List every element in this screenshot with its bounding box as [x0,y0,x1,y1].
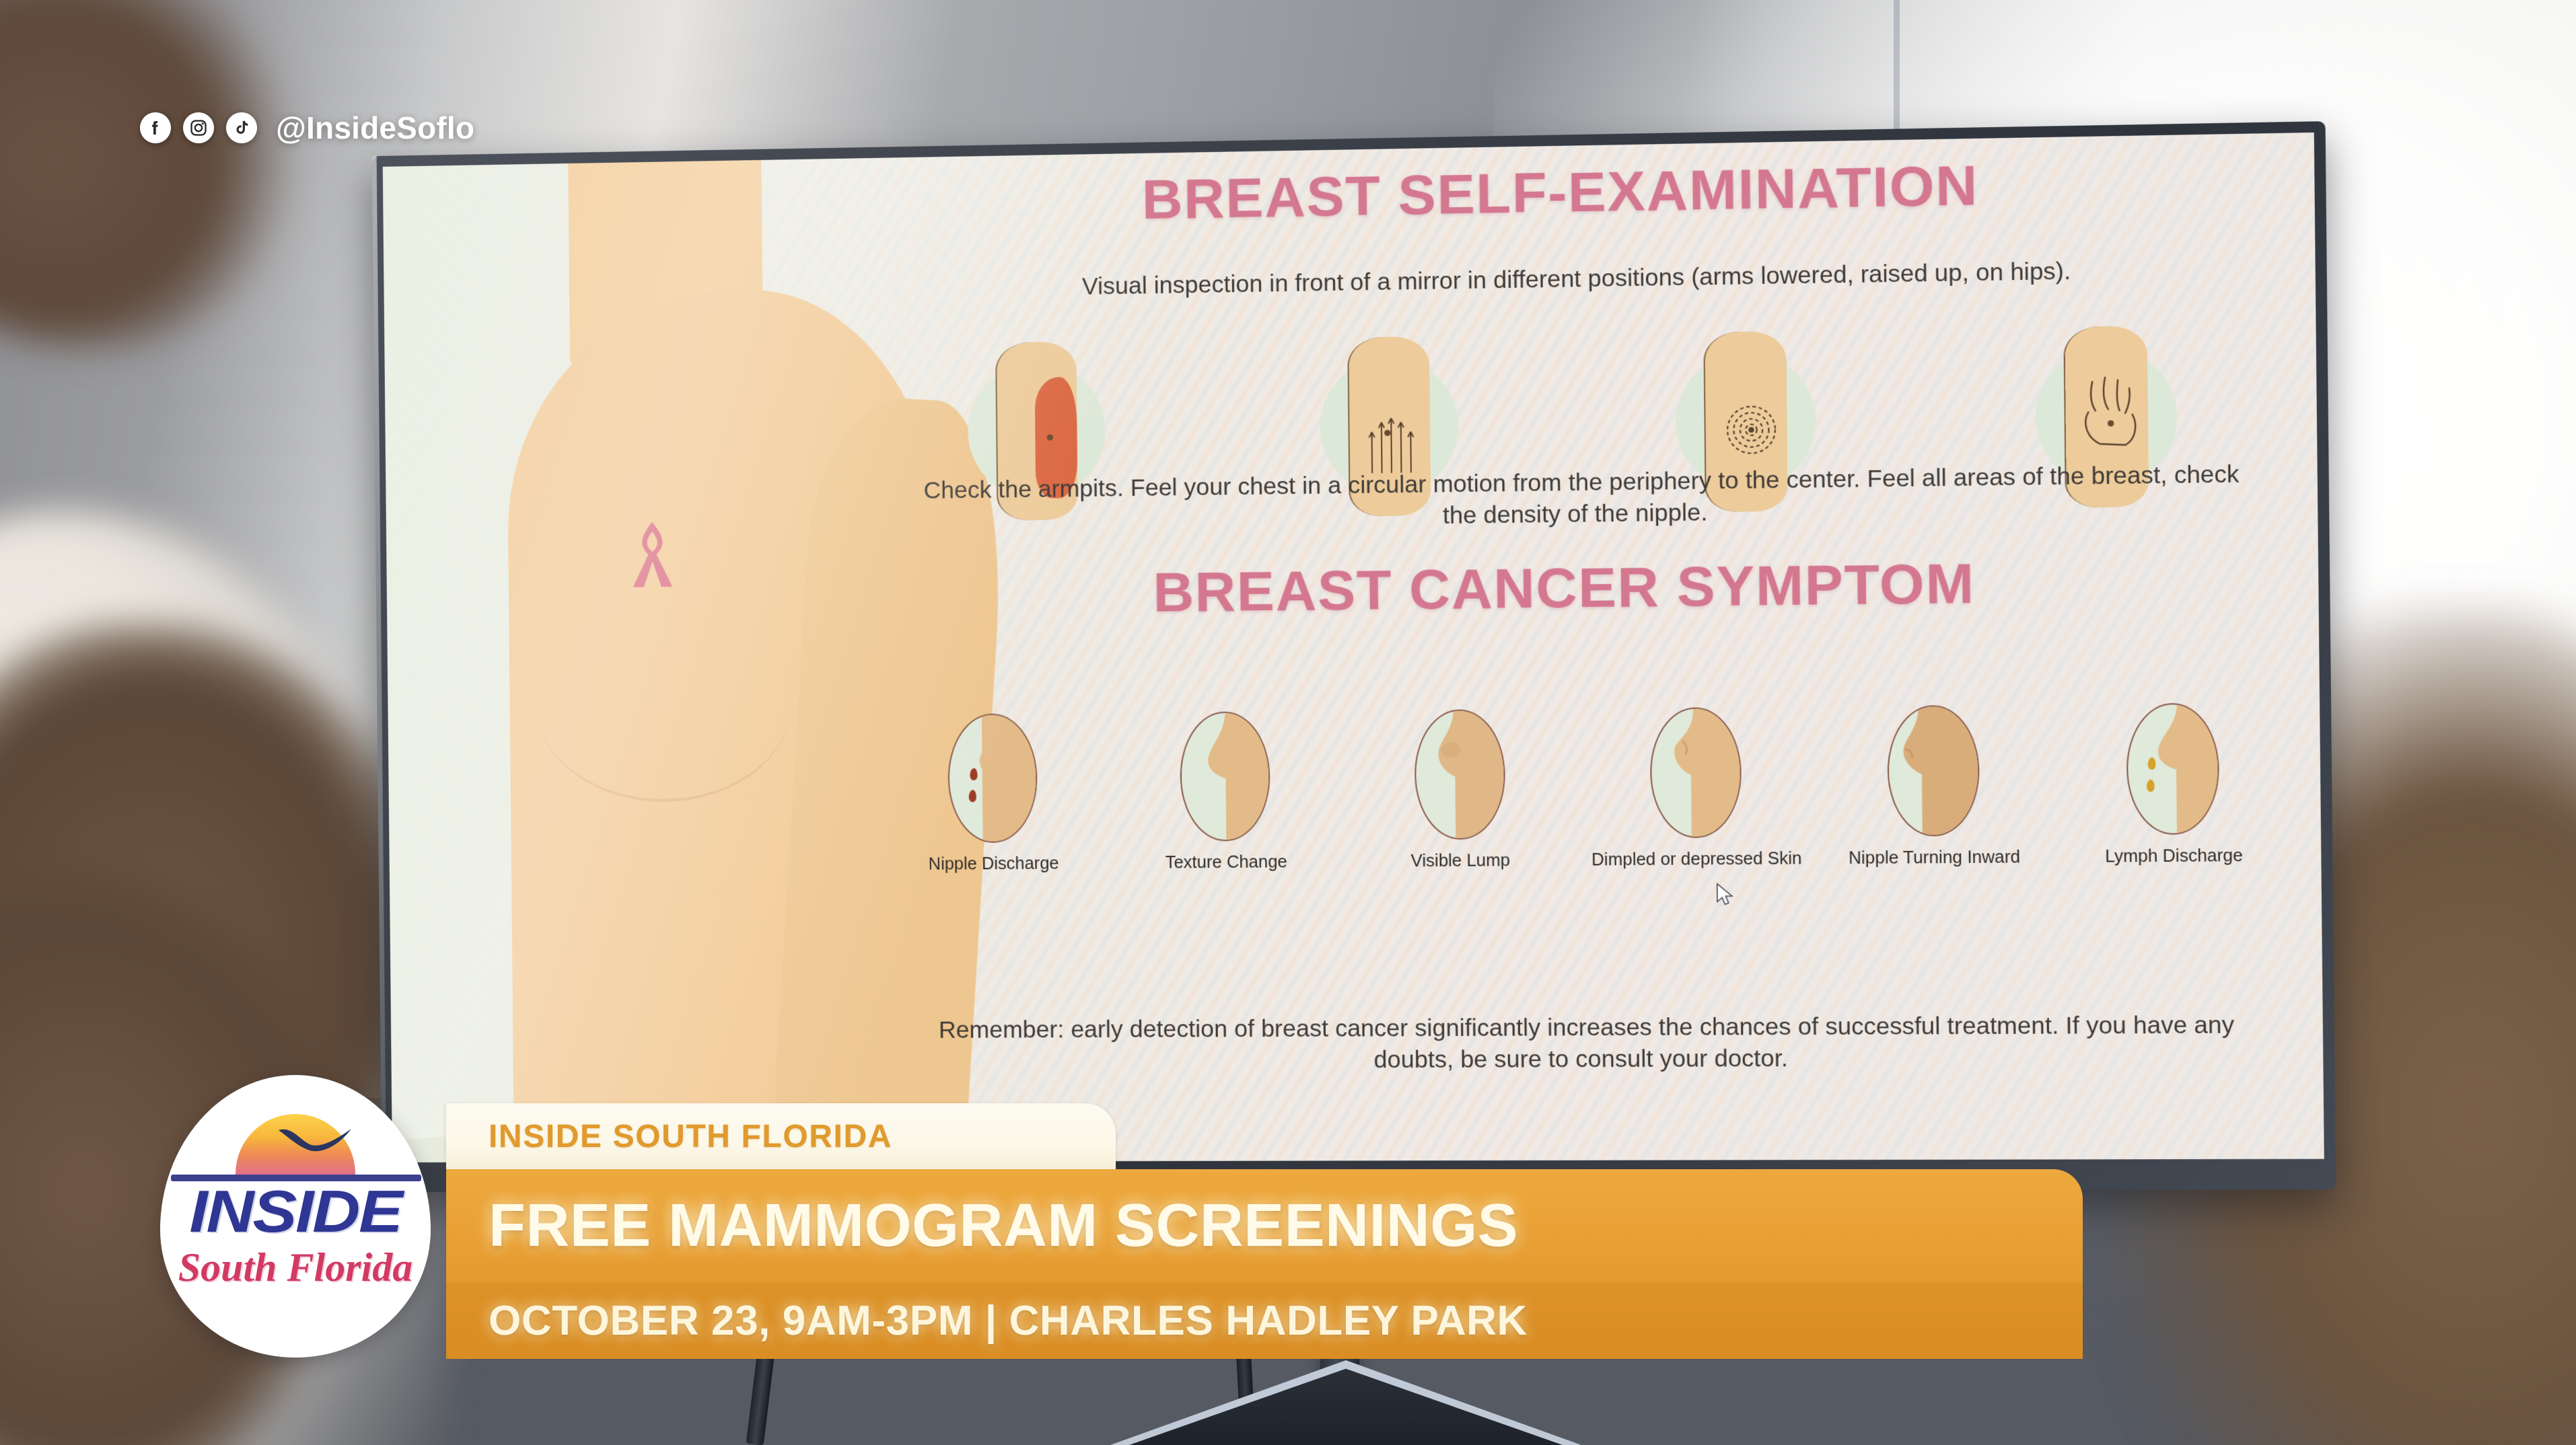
symptom-label: Lymph Discharge [2064,845,2285,868]
slide-canvas: BREAST SELF-EXAMINATION Visual inspectio… [383,133,2324,1162]
social-handle-text: @InsideSoflo [276,110,474,146]
symptom-item: Visible Lump [1351,709,1569,873]
profile-outline [2128,704,2219,833]
logo-wordmark: INSIDE [160,1177,431,1246]
symptom-item: Dimpled or depressed Skin [1587,707,1805,871]
profile-outline [1888,706,1978,836]
profile-outline [1651,708,1740,837]
lymph-discharge-icon [2126,703,2220,836]
channel-logo-badge: INSIDE South Florida [160,1075,431,1358]
monitor-screen[interactable]: BREAST SELF-EXAMINATION Visual inspectio… [383,133,2324,1162]
person-head [0,0,293,348]
facebook-icon[interactable] [140,112,171,143]
headline-text: FREE MAMMOGRAM SCREENINGS [489,1191,1518,1261]
mouse-cursor-icon [1715,883,1733,907]
logo-script: South Florida [160,1245,431,1291]
visible-lump-icon [1414,710,1505,840]
headline-banner: FREE MAMMOGRAM SCREENINGS [446,1169,2083,1282]
symptom-label: Visible Lump [1353,850,1569,873]
show-name-tab: INSIDE SOUTH FLORIDA [446,1103,1116,1169]
social-handle-bar: @InsideSoflo [140,110,474,146]
presentation-monitor: BREAST SELF-EXAMINATION Visual inspectio… [372,121,2336,1192]
seagull-icon [276,1123,357,1158]
nipple-inward-icon [1887,705,1980,837]
symptom-item: Nipple Turning Inward [1824,704,2044,869]
profile-outline [1415,711,1504,839]
tiktok-icon[interactable] [226,112,257,143]
symptom-label: Dimpled or depressed Skin [1588,848,1805,871]
logo-artwork: INSIDE South Florida [160,1075,431,1358]
screen-glare [383,133,1384,1151]
monitor-bezel: BREAST SELF-EXAMINATION Visual inspectio… [372,121,2336,1192]
dimpled-skin-icon [1649,707,1742,838]
detail-banner: OCTOBER 23, 9AM-3PM | CHARLES HADLEY PAR… [446,1282,2083,1359]
detail-text: OCTOBER 23, 9AM-3PM | CHARLES HADLEY PAR… [489,1297,1528,1345]
show-name-text: INSIDE SOUTH FLORIDA [489,1118,892,1155]
symptom-item: Lymph Discharge [2063,702,2285,868]
instagram-icon[interactable] [183,112,214,143]
symptom-label: Nipple Turning Inward [1825,847,2044,870]
studio-scene: BREAST SELF-EXAMINATION Visual inspectio… [0,0,2576,1445]
